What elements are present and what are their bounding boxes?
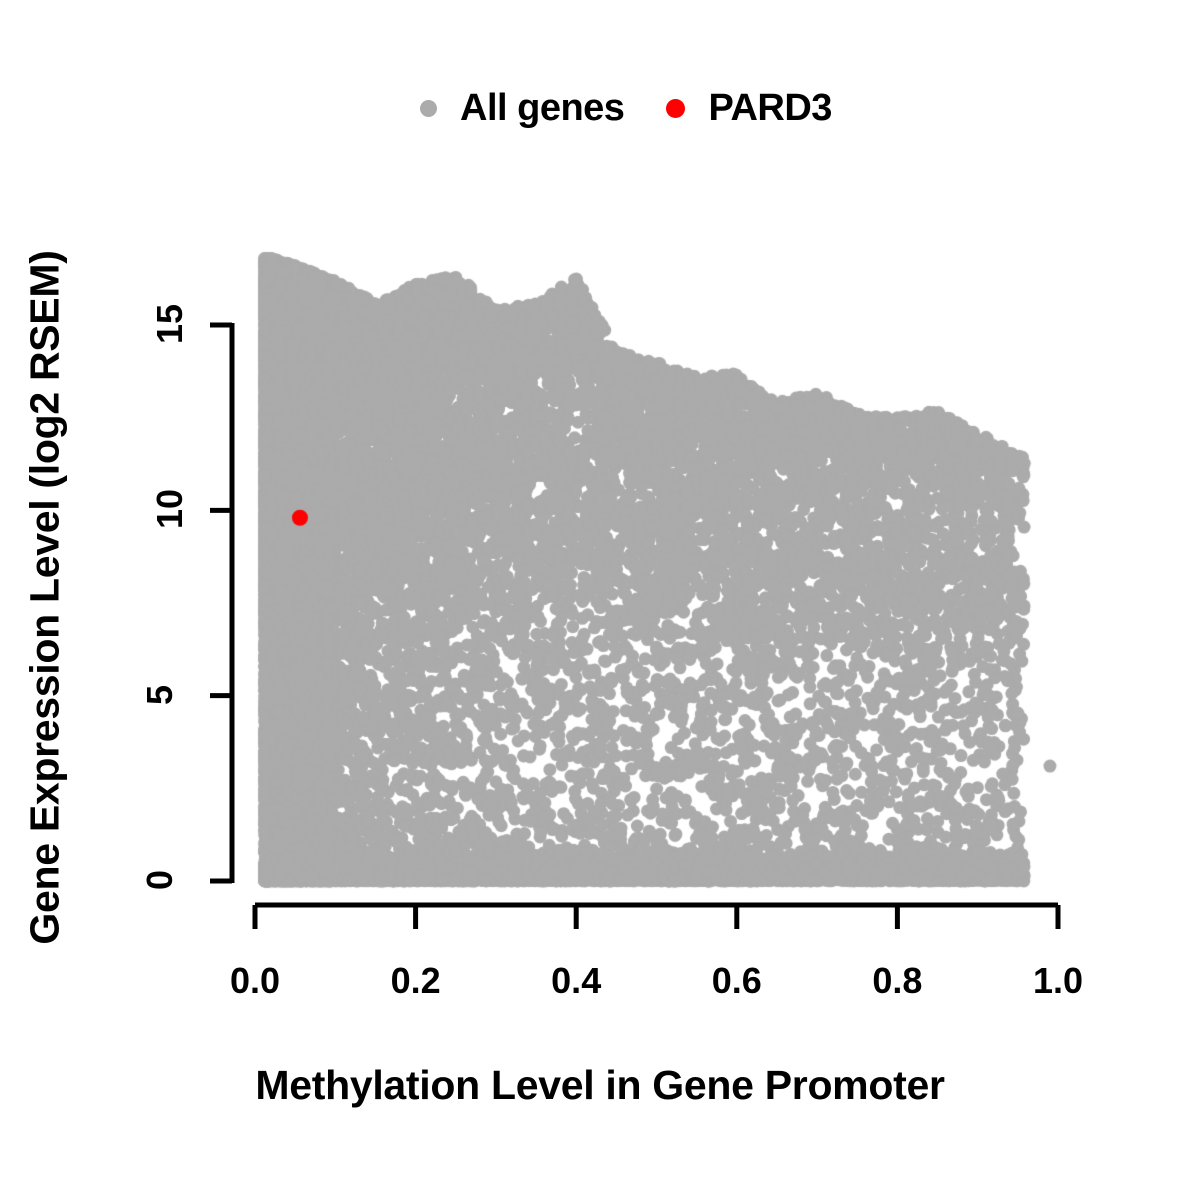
x-tick-label: 1.0 bbox=[1033, 960, 1083, 1002]
y-tick-label: 10 bbox=[149, 489, 191, 529]
x-tick-label: 0.2 bbox=[391, 960, 441, 1002]
x-axis-title: Methylation Level in Gene Promoter bbox=[0, 1062, 1200, 1109]
x-tick-label: 0.6 bbox=[712, 960, 762, 1002]
y-tick-label: 0 bbox=[139, 870, 181, 890]
x-tick-label: 0.0 bbox=[230, 960, 280, 1002]
y-tick-label: 15 bbox=[149, 304, 191, 344]
x-tick-label: 0.8 bbox=[872, 960, 922, 1002]
y-tick-label: 5 bbox=[139, 685, 181, 705]
scatter-points-layer bbox=[0, 0, 1200, 1200]
plot-panel bbox=[0, 0, 1200, 1200]
x-tick-label: 0.4 bbox=[551, 960, 601, 1002]
scatter-plot-figure: All genes PARD3 0.00.20.40.60.81.0 05101… bbox=[0, 0, 1200, 1200]
